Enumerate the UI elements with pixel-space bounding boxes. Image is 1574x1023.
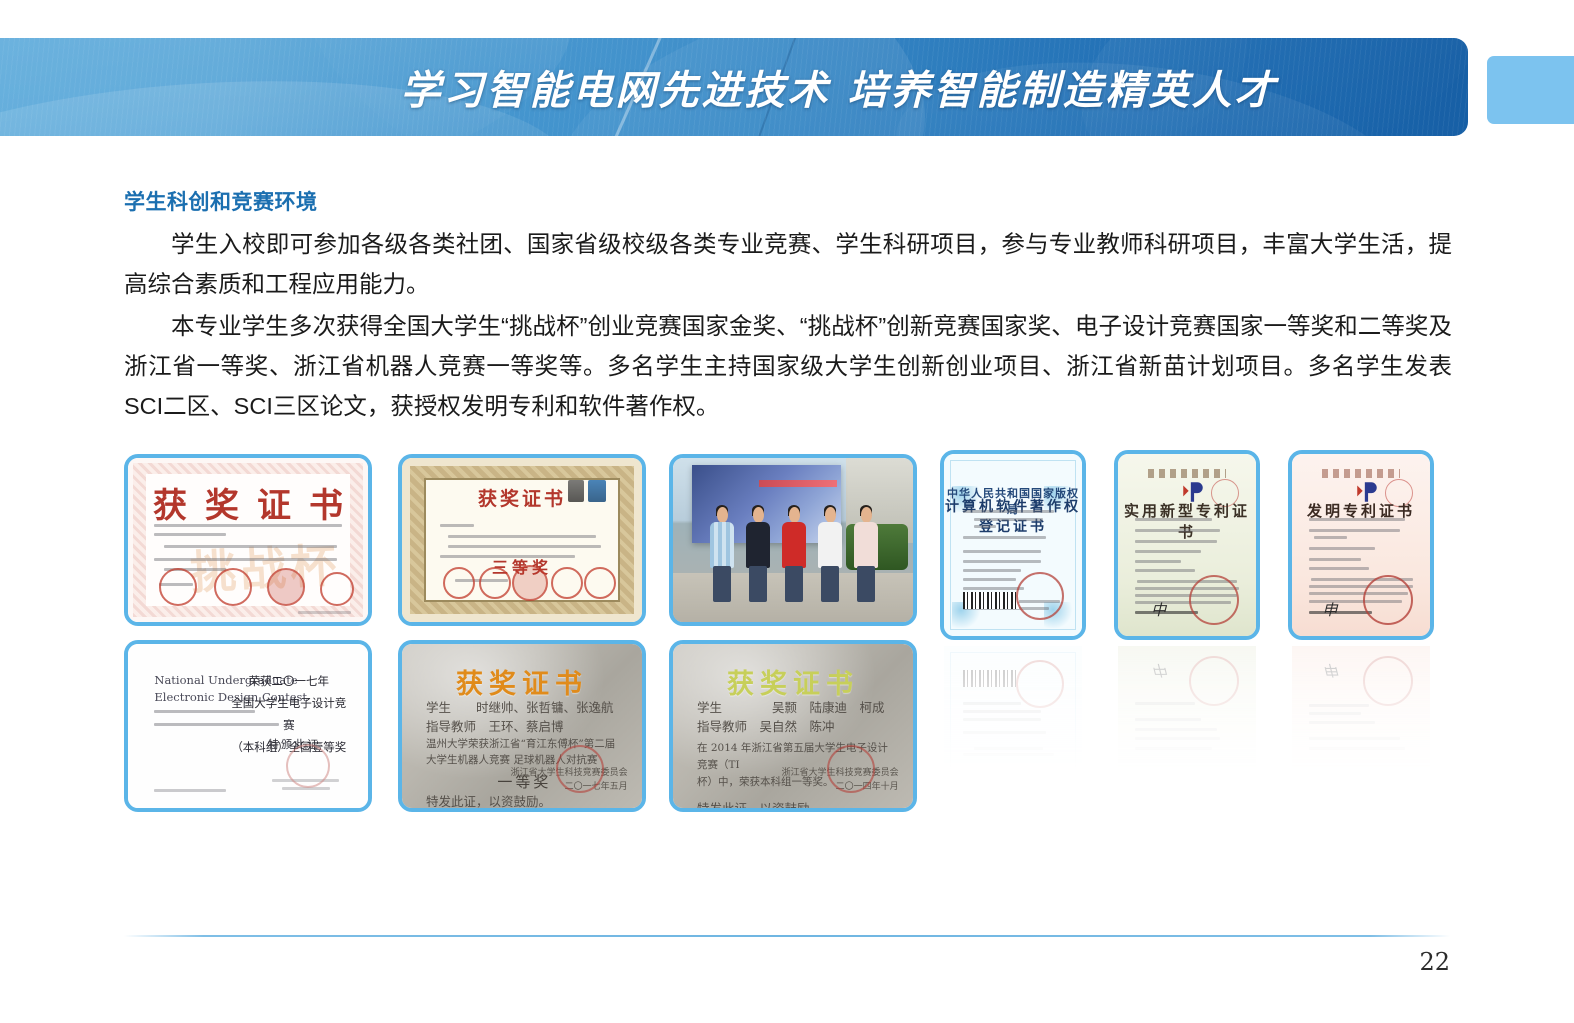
certificate-title: 获奖证书	[128, 478, 368, 527]
certificate-title: 获奖证书	[402, 662, 642, 701]
gallery-item-software-copyright-certificate[interactable]: 中华人民共和国国家版权局 计算机软件著作权登记证书	[940, 450, 1086, 640]
certificate-graphic: 获奖证书 学生 吴颢 陆康迪 柯成 指导教师 吴自然 陈冲 在 2014 年浙江…	[673, 644, 913, 808]
barcode-icon	[963, 592, 1019, 609]
page-number: 22	[1419, 948, 1450, 976]
gallery-item-award-certificate-challenge-cup[interactable]: 获奖证书 挑战杯	[124, 454, 372, 626]
gallery-item-nuedc-certificate[interactable]: National Undergraduate Electronic Design…	[124, 640, 372, 812]
gallery-item-award-certificate-third-prize[interactable]: 获奖证书 三等奖	[398, 454, 646, 626]
certificate-graphic: 发明专利证书 申	[1292, 454, 1430, 636]
official-seal-icon	[827, 745, 875, 793]
certificate-graphic: 获奖证书 学生 时继帅、张哲镛、张逸航 指导教师 王环、蔡启博 温州大学荣获浙江…	[402, 644, 642, 808]
certificate-title: 计算机软件著作权登记证书	[944, 496, 1082, 536]
reflection-software-copyright	[944, 646, 1082, 806]
gallery-item-competition-group-photo[interactable]	[669, 454, 917, 626]
signature-mark: 中	[1151, 599, 1166, 620]
gallery-item-utility-model-patent-certificate[interactable]: 实用新型专利证书 中	[1114, 450, 1260, 640]
certificate-graphic: 获奖证书 挑战杯	[128, 458, 368, 622]
contest-logo-icon	[568, 480, 584, 502]
official-seal-icon	[1363, 575, 1413, 625]
image-gallery: 获奖证书 挑战杯 获奖证书 三等奖	[0, 444, 1574, 824]
certificate-watermark: 挑战杯	[189, 530, 342, 604]
certificate-graphic: 中华人民共和国国家版权局 计算机软件著作权登记证书	[944, 454, 1082, 636]
certificate-graphic: 实用新型专利证书 中	[1118, 454, 1256, 636]
official-seal-icon	[556, 745, 604, 793]
reflection-invention-patent: 申	[1292, 646, 1430, 806]
banner-title: 学习智能电网先进技术 培养智能制造精英人才	[0, 38, 1468, 136]
reflection-utility-model-patent: 中	[1118, 646, 1256, 806]
gallery-item-invention-patent-certificate[interactable]: 发明专利证书 申	[1288, 450, 1434, 640]
page-header: 学习智能电网先进技术 培养智能制造精英人才	[0, 38, 1574, 136]
gallery-item-ti-cup-first-prize[interactable]: 获奖证书 学生 吴颢 陆康迪 柯成 指导教师 吴自然 陈冲 在 2014 年浙江…	[669, 640, 917, 812]
certificate-title: 获奖证书	[673, 662, 913, 701]
official-seal-icon	[1016, 572, 1064, 620]
certificate-graphic: National Undergraduate Electronic Design…	[128, 644, 368, 808]
footer-divider	[124, 935, 1450, 937]
section-heading: 学生科创和竞赛环境	[124, 186, 318, 216]
gallery-item-robot-contest-first-prize[interactable]: 获奖证书 学生 时继帅、张哲镛、张逸航 指导教师 王环、蔡启博 温州大学荣获浙江…	[398, 640, 646, 812]
body-paragraph-1: 学生入校即可参加各级各类社团、国家省级校级各类专业竞赛、学生科研项目，参与专业教…	[124, 224, 1452, 304]
body-paragraph-2: 本专业学生多次获得全国大学生“挑战杯”创业竞赛国家金奖、“挑战杯”创新竞赛国家奖…	[124, 306, 1452, 426]
official-seal-icon	[286, 744, 330, 788]
photo-graphic	[673, 458, 913, 622]
contest-logo-icon	[588, 480, 606, 502]
certificate-title: 获奖证书	[402, 484, 642, 511]
signature-mark: 申	[1322, 599, 1337, 620]
certificate-graphic: 获奖证书 三等奖	[402, 458, 642, 622]
banner-side-block	[1487, 56, 1574, 124]
official-seal-icon	[1189, 575, 1239, 625]
